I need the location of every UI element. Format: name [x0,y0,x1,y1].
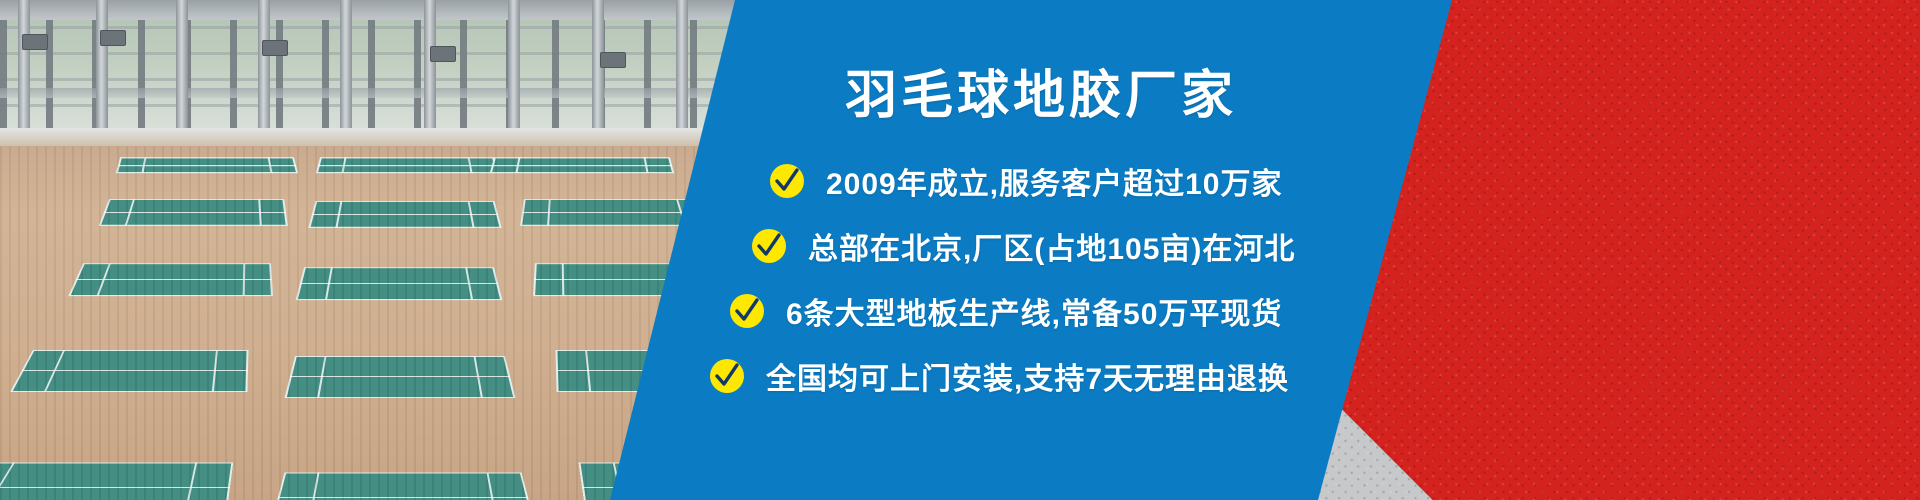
list-item: 2009年成立,服务客户超过10万家 [0,148,1920,213]
feature-text: 总部在北京,厂区(占地105亩)在河北 [808,224,1295,268]
list-item: 全国均可上门安装,支持7天无理由退换 [0,343,1920,408]
feature-text: 全国均可上门安装,支持7天无理由退换 [766,354,1289,398]
feature-text: 6条大型地板生产线,常备50万平现货 [786,289,1282,333]
list-item: 6条大型地板生产线,常备50万平现货 [0,278,1920,343]
banner-content: 羽毛球地胶厂家 2009年成立,服务客户超过10万家 总部在北京,厂区(占地10… [0,0,1920,500]
check-circle-icon [752,229,786,263]
promo-banner: 羽毛球地胶厂家 2009年成立,服务客户超过10万家 总部在北京,厂区(占地10… [0,0,1920,500]
check-circle-icon [730,294,764,328]
check-circle-icon [770,164,804,198]
check-circle-icon [710,359,744,393]
list-item: 总部在北京,厂区(占地105亩)在河北 [0,213,1920,278]
page-title: 羽毛球地胶厂家 [845,70,1237,122]
feature-text: 2009年成立,服务客户超过10万家 [826,159,1282,203]
feature-list: 2009年成立,服务客户超过10万家 总部在北京,厂区(占地105亩)在河北 6… [0,148,1920,408]
